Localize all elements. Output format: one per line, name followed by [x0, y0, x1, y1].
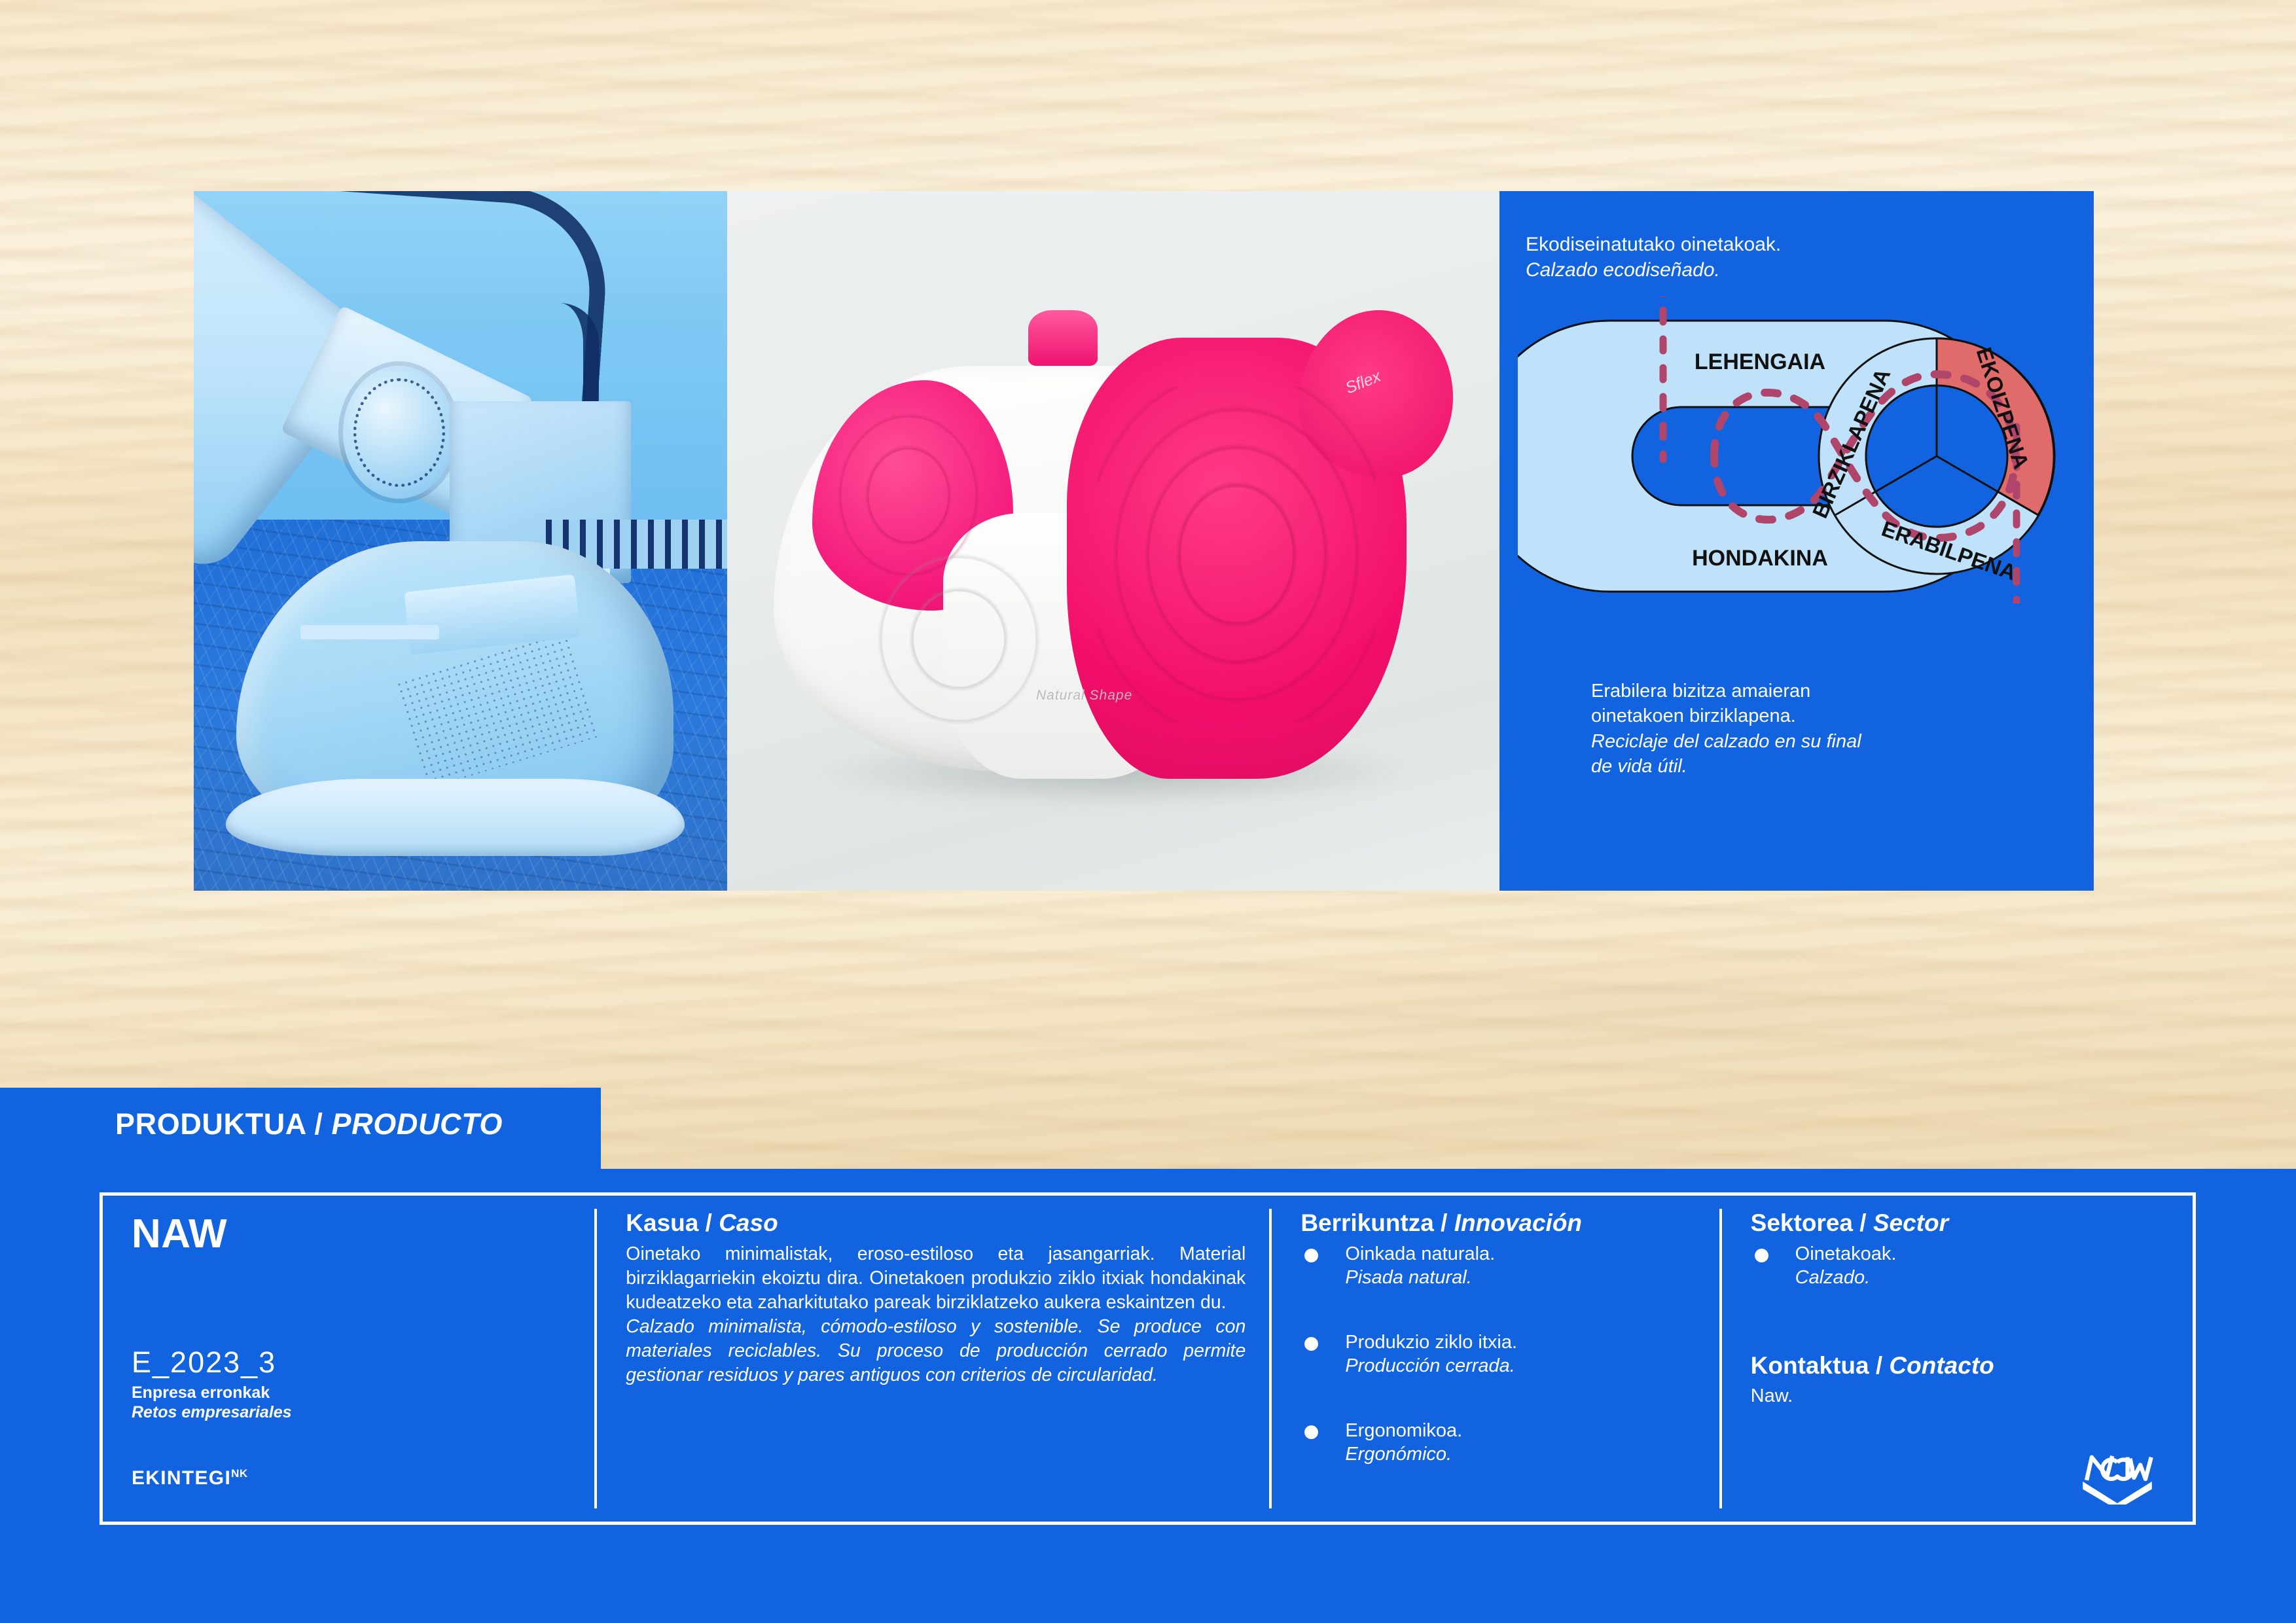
robot-arm-photo	[194, 191, 727, 891]
sneaker-lace	[300, 625, 439, 639]
innovation-title-separator: /	[1434, 1209, 1454, 1236]
image-strip: Natural Shape Sflex Ekodiseinatutako oin…	[194, 191, 2094, 891]
section-tab-label: PRODUKTUA / PRODUCTO	[115, 1107, 503, 1141]
innovation-list: Oinkada naturala. Pisada natural. Produk…	[1300, 1242, 1708, 1467]
diagram-label-hondakina: HONDAKINA	[1692, 546, 1828, 571]
innovation-title: Berrikuntza / Innovación	[1300, 1210, 1708, 1237]
bullet-dot-icon	[1304, 1425, 1318, 1439]
project-subtitle-eu: Enpresa erronkak	[132, 1383, 597, 1403]
contact-title-es: Contacto	[1889, 1352, 1994, 1379]
list-item: Oinetakoak. Calzado.	[1751, 1242, 2179, 1290]
list-item: Oinkada naturala. Pisada natural.	[1300, 1242, 1708, 1290]
sneaker-sole	[226, 779, 685, 856]
organisation-suffix: NK	[231, 1467, 248, 1480]
tab-label-eu: PRODUKTUA	[115, 1107, 306, 1141]
diagram-caption-es-1: Reciclaje del calzado en su final	[1591, 729, 2066, 754]
sector-title-es: Sector	[1873, 1209, 1948, 1236]
diagram-caption-eu-1: Erabilera bizitza amaieran	[1591, 679, 2066, 704]
contact-value: Naw.	[1751, 1384, 2179, 1409]
innovation-item-es: Ergonómico.	[1345, 1442, 1708, 1467]
case-title-es: Caso	[719, 1209, 778, 1236]
list-item: Ergonomikoa. Ergonómico.	[1300, 1419, 1708, 1467]
tab-label-separator: /	[306, 1107, 331, 1141]
innovation-item-es: Pisada natural.	[1345, 1266, 1708, 1290]
diagram-heading-eu: Ekodiseinatutako oinetakoak.	[1526, 232, 2094, 257]
bullet-dot-icon	[1304, 1337, 1318, 1351]
organisation-logo-text: EKINTEGINK	[132, 1467, 248, 1489]
organisation-name: EKINTEGI	[132, 1467, 231, 1489]
list-item: Produkzio ziklo itxia. Producción cerrad…	[1300, 1330, 1708, 1378]
contact-title: Kontaktua / Contacto	[1751, 1353, 2179, 1380]
sector-title-eu: Sektorea	[1751, 1209, 1853, 1236]
sector-item-eu: Oinetakoak.	[1795, 1243, 1897, 1264]
contact-title-separator: /	[1869, 1352, 1890, 1379]
card-column-sector: Sektorea / Sector Oinetakoak. Calzado. K…	[1722, 1196, 2193, 1522]
sole-brand-mark: Natural Shape	[1036, 688, 1132, 704]
diagram-caption-eu-2: oinetakoen birziklapena.	[1591, 704, 2066, 728]
diagram-label-lehengaia: LEHENGAIA	[1695, 349, 1825, 374]
bullet-dot-icon	[1304, 1249, 1318, 1262]
diagram-heading: Ekodiseinatutako oinetakoak. Calzado eco…	[1526, 232, 2094, 283]
shoe-sole-photo: Natural Shape Sflex	[727, 191, 1499, 891]
sector-list: Oinetakoak. Calzado.	[1751, 1242, 2179, 1290]
sole-tread-rings-white	[866, 541, 1051, 737]
project-subtitle-es: Retos empresariales	[132, 1403, 597, 1423]
card-column-brand: NAW E_2023_3 Enpresa erronkak Retos empr…	[103, 1196, 597, 1522]
shoe-pull-tab	[1028, 310, 1098, 366]
sector-title: Sektorea / Sector	[1751, 1210, 2179, 1237]
case-body-es: Calzado minimalista, cómodo-estiloso y s…	[626, 1315, 1246, 1387]
sole-tread-rings-forefoot	[1098, 387, 1376, 722]
innovation-title-eu: Berrikuntza	[1300, 1209, 1434, 1236]
bullet-dot-icon	[1755, 1249, 1768, 1262]
case-title-separator: /	[698, 1209, 719, 1236]
sector-title-separator: /	[1853, 1209, 1873, 1236]
naw-logo-icon	[2079, 1448, 2156, 1505]
project-code: E_2023_3	[132, 1347, 597, 1377]
robot-joint	[343, 366, 455, 499]
card-column-case: Kasua / Caso Oinetako minimalistak, eros…	[597, 1196, 1272, 1522]
circular-economy-panel: Ekodiseinatutako oinetakoak. Calzado eco…	[1499, 191, 2094, 891]
brand-name: NAW	[132, 1214, 597, 1255]
diagram-heading-es: Calzado ecodiseñado.	[1526, 257, 2094, 283]
innovation-item-eu: Produkzio ziklo itxia.	[1345, 1332, 1517, 1353]
case-title-eu: Kasua	[626, 1209, 698, 1236]
diagram-caption: Erabilera bizitza amaieran oinetakoen bi…	[1591, 679, 2066, 779]
contact-block: Kontaktua / Contacto Naw.	[1751, 1353, 2179, 1409]
sector-item-es: Calzado.	[1795, 1266, 2179, 1290]
innovation-title-es: Innovación	[1454, 1209, 1582, 1236]
info-card: NAW E_2023_3 Enpresa erronkak Retos empr…	[99, 1192, 2196, 1525]
innovation-item-es: Producción cerrada.	[1345, 1354, 1708, 1378]
innovation-item-eu: Oinkada naturala.	[1345, 1243, 1495, 1264]
case-title: Kasua / Caso	[626, 1210, 1246, 1237]
innovation-item-eu: Ergonomikoa.	[1345, 1420, 1462, 1441]
contact-title-eu: Kontaktua	[1751, 1352, 1869, 1379]
case-body-eu: Oinetako minimalistak, eroso-estiloso et…	[626, 1242, 1246, 1315]
tab-label-es: PRODUCTO	[332, 1107, 503, 1141]
diagram-caption-es-2: de vida útil.	[1591, 754, 2066, 779]
infinity-loop-diagram: LEHENGAIA HONDAKINA BIRZIKLAPENA EKOIZPE…	[1518, 296, 2075, 603]
card-column-innovation: Berrikuntza / Innovación Oinkada natural…	[1272, 1196, 1721, 1522]
